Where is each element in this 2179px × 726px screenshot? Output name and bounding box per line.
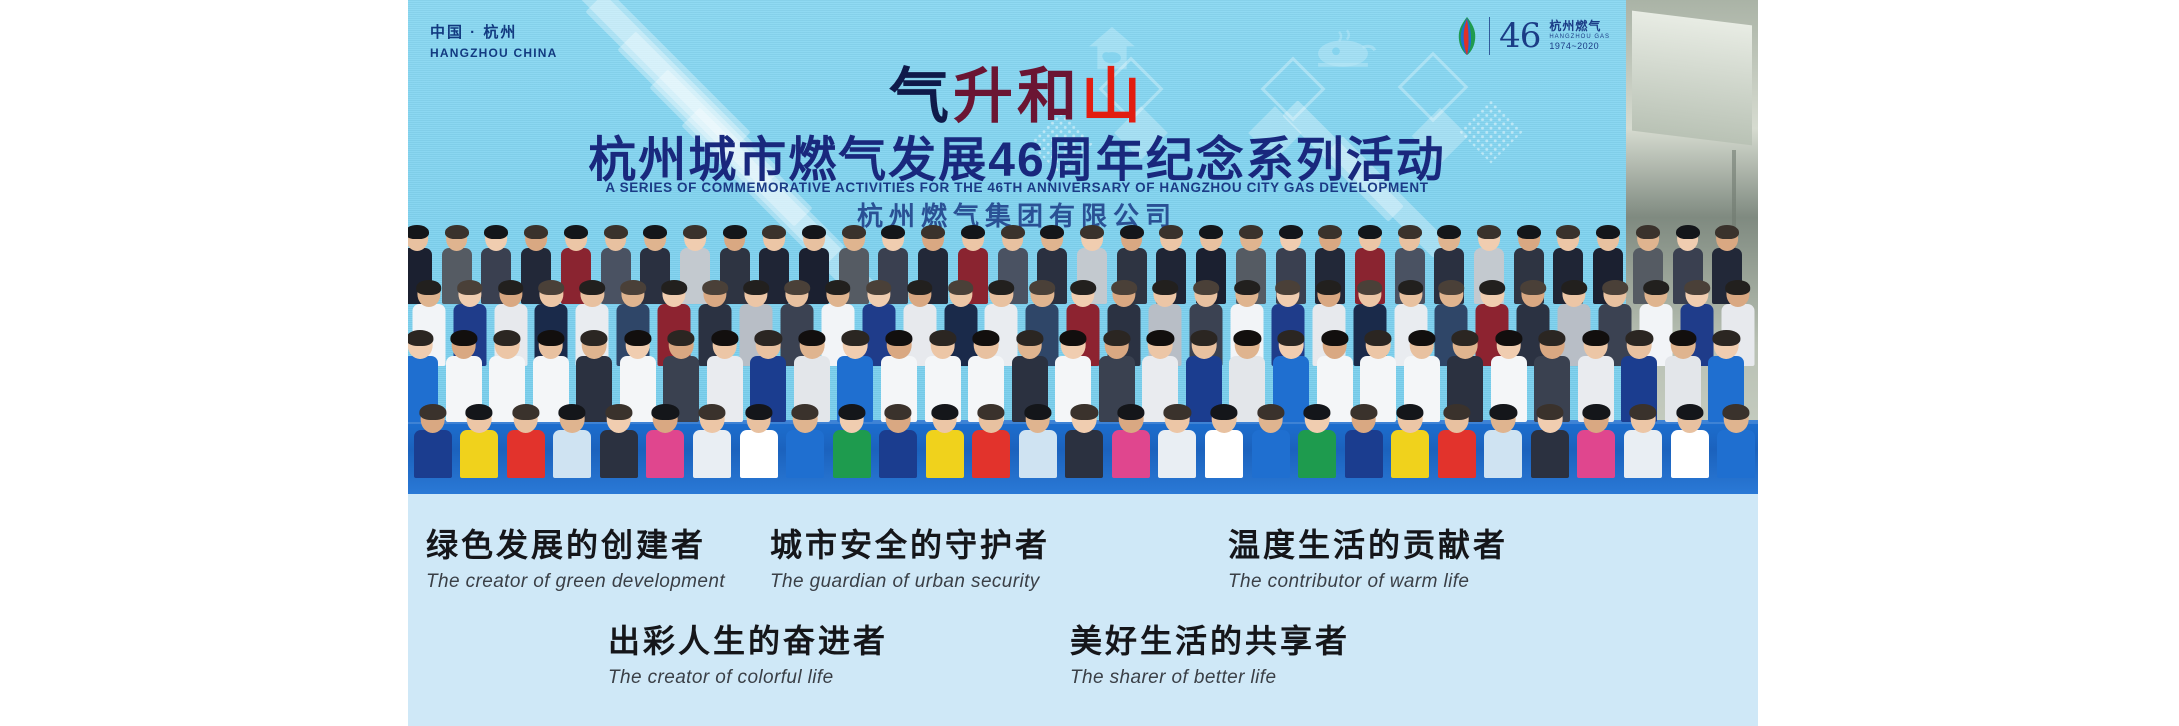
person-hair (1596, 225, 1620, 239)
person-torso (926, 430, 964, 478)
person-hair (1120, 225, 1144, 239)
person-hair (668, 330, 695, 346)
person (1345, 396, 1383, 478)
person-hair (1561, 280, 1587, 295)
person-hair (643, 225, 667, 239)
person-torso (1065, 430, 1103, 478)
person (1671, 396, 1709, 478)
flame-icon (1454, 16, 1480, 56)
person-hair (1583, 404, 1610, 420)
person-hair (838, 404, 865, 420)
person-hair (1582, 330, 1609, 346)
person-hair (1725, 280, 1751, 295)
person-hair (1111, 280, 1137, 295)
person-hair (907, 280, 933, 295)
person (414, 396, 452, 478)
person-torso (693, 430, 731, 478)
person-torso (1438, 430, 1476, 478)
person-torso (460, 430, 498, 478)
person (1298, 396, 1336, 478)
company-name-en: HANGZHOU GAS (1549, 34, 1610, 41)
person-hair (1060, 330, 1087, 346)
crowd-of-people (408, 150, 1758, 494)
person-hair (661, 280, 687, 295)
person-hair (1318, 225, 1342, 239)
slogan-item-3: 温度生活的贡献者 The contributor of warm life (1228, 520, 1508, 593)
person-hair (825, 280, 851, 295)
person-hair (1520, 280, 1546, 295)
person-hair (1277, 330, 1304, 346)
person-hair (1398, 225, 1422, 239)
person (1717, 396, 1755, 478)
slogan-en: The creator of colorful life (608, 667, 888, 689)
person-torso (879, 430, 917, 478)
person-hair (1539, 330, 1566, 346)
person-hair (1643, 280, 1669, 295)
person-hair (1316, 280, 1342, 295)
person-torso (1717, 430, 1755, 478)
person-hair (624, 330, 651, 346)
slogan-panel: 绿色发展的创建者 The creator of green developmen… (408, 494, 1758, 726)
person-torso (1624, 430, 1662, 478)
person-hair (1715, 225, 1739, 239)
person (553, 396, 591, 478)
person-torso (833, 430, 871, 478)
person-hair (498, 280, 524, 295)
person-torso (1671, 430, 1709, 478)
person-hair (1024, 404, 1051, 420)
person-hair (1070, 280, 1096, 295)
slogan-en: The sharer of better life (1070, 667, 1350, 689)
person (1484, 396, 1522, 478)
person-hair (1199, 225, 1223, 239)
person (600, 396, 638, 478)
person-hair (457, 280, 483, 295)
person-torso (1298, 430, 1336, 478)
person-hair (580, 280, 606, 295)
logo-divider (1489, 17, 1490, 55)
person-torso (1484, 430, 1522, 478)
person (786, 396, 824, 478)
person-hair (1556, 225, 1580, 239)
person-hair (1490, 404, 1517, 420)
person-hair (1495, 330, 1522, 346)
person (1577, 396, 1615, 478)
person-hair (1159, 225, 1183, 239)
person-hair (1517, 225, 1541, 239)
person-hair (755, 330, 782, 346)
person (1158, 396, 1196, 478)
person-hair (881, 225, 905, 239)
person-hair (1210, 404, 1237, 420)
person-hair (408, 330, 434, 346)
person-torso (414, 430, 452, 478)
slogan-cn: 出彩人生的奋进者 (608, 616, 888, 662)
person-hair (743, 280, 769, 295)
person-hair (1030, 280, 1056, 295)
person-hair (1477, 225, 1501, 239)
person-torso (553, 430, 591, 478)
person-hair (1408, 330, 1435, 346)
person-hair (1629, 404, 1656, 420)
person-hair (1722, 404, 1749, 420)
person-hair (1234, 330, 1261, 346)
location-label-cn: 中国 · 杭州 (430, 24, 557, 43)
person-hair (419, 404, 446, 420)
person-hair (791, 404, 818, 420)
slogan-cn: 美好生活的共享者 (1070, 616, 1350, 662)
person-hair (1357, 280, 1383, 295)
person-hair (762, 225, 786, 239)
person (833, 396, 871, 478)
person-torso (646, 430, 684, 478)
person-hair (1275, 280, 1301, 295)
person-hair (929, 330, 956, 346)
person-hair (784, 280, 810, 295)
person (1065, 396, 1103, 478)
person-hair (484, 225, 508, 239)
person-torso (507, 430, 545, 478)
person-hair (494, 330, 521, 346)
person-hair (524, 225, 548, 239)
person-hair (961, 225, 985, 239)
slogan-item-1: 绿色发展的创建者 The creator of green developmen… (426, 520, 725, 593)
person-hair (1103, 330, 1130, 346)
person-hair (1304, 404, 1331, 420)
slogan-en: The guardian of urban security (770, 571, 1050, 593)
person-hair (1536, 404, 1563, 420)
person-hair (745, 404, 772, 420)
person-hair (723, 225, 747, 239)
person (1438, 396, 1476, 478)
person-hair (559, 404, 586, 420)
person-hair (885, 330, 912, 346)
person-torso (1112, 430, 1150, 478)
person-hair (1452, 330, 1479, 346)
slogan-item-5: 美好生活的共享者 The sharer of better life (1070, 616, 1350, 689)
person-hair (581, 330, 608, 346)
person (1252, 396, 1290, 478)
person-hair (842, 225, 866, 239)
person-torso (972, 430, 1010, 478)
person-hair (1398, 280, 1424, 295)
person-hair (1676, 225, 1700, 239)
person-hair (802, 225, 826, 239)
person-torso (1391, 430, 1429, 478)
person-torso (1531, 430, 1569, 478)
person-hair (1257, 404, 1284, 420)
person-hair (921, 225, 945, 239)
poster-card: 中国 · 杭州 HANGZHOU CHINA 46 杭州燃气 HANGZHOU … (408, 0, 1758, 726)
slogan-cn: 绿色发展的创建者 (426, 520, 725, 566)
cooking-pot-icon (1308, 26, 1378, 78)
person-hair (931, 404, 958, 420)
person-hair (652, 404, 679, 420)
person-hair (1669, 330, 1696, 346)
person-hair (605, 404, 632, 420)
person-torso (1345, 430, 1383, 478)
person-hair (1147, 330, 1174, 346)
person (879, 396, 917, 478)
person-hair (450, 330, 477, 346)
group-photo: 中国 · 杭州 HANGZHOU CHINA 46 杭州燃气 HANGZHOU … (408, 0, 1758, 494)
hangzhou-gas-logo: 46 杭州燃气 HANGZHOU GAS 1974~2020 (1454, 16, 1610, 56)
person-hair (711, 330, 738, 346)
person-hair (702, 280, 728, 295)
person (1112, 396, 1150, 478)
person-hair (1279, 225, 1303, 239)
person-torso (1252, 430, 1290, 478)
person-hair (1164, 404, 1191, 420)
person-hair (1713, 330, 1740, 346)
person-torso (1205, 430, 1243, 478)
slogan-en: The contributor of warm life (1228, 571, 1508, 593)
person-hair (512, 404, 539, 420)
person-hair (416, 280, 442, 295)
person (1205, 396, 1243, 478)
company-name-cn: 杭州燃气 (1549, 20, 1610, 34)
location-label-en: HANGZHOU CHINA (430, 46, 557, 60)
person-hair (1626, 330, 1653, 346)
person (460, 396, 498, 478)
person (693, 396, 731, 478)
person-hair (1193, 280, 1219, 295)
person (1391, 396, 1429, 478)
person-hair (1636, 225, 1660, 239)
person-hair (1239, 225, 1263, 239)
person-hair (1439, 280, 1465, 295)
slogan-item-4: 出彩人生的奋进者 The creator of colorful life (608, 616, 888, 689)
person-hair (445, 225, 469, 239)
person-hair (1364, 330, 1391, 346)
person-hair (408, 225, 429, 239)
person-torso (600, 430, 638, 478)
person (507, 396, 545, 478)
person-hair (1234, 280, 1260, 295)
person-hair (683, 225, 707, 239)
person (1531, 396, 1569, 478)
person-hair (1676, 404, 1703, 420)
person-hair (842, 330, 869, 346)
person-torso (786, 430, 824, 478)
logo-wordmark: 杭州燃气 HANGZHOU GAS 1974~2020 (1549, 20, 1610, 51)
person (926, 396, 964, 478)
person-hair (1437, 225, 1461, 239)
person-torso (740, 430, 778, 478)
person (646, 396, 684, 478)
person-hair (1443, 404, 1470, 420)
person-hair (539, 280, 565, 295)
person-hair (885, 404, 912, 420)
person-hair (973, 330, 1000, 346)
slogan-item-2: 城市安全的守护者 The guardian of urban security (770, 520, 1050, 593)
person-hair (1480, 280, 1506, 295)
anniversary-number: 46 (1499, 19, 1540, 53)
person-hair (1001, 225, 1025, 239)
person-hair (1602, 280, 1628, 295)
person-hair (1190, 330, 1217, 346)
person-hair (564, 225, 588, 239)
person-hair (1397, 404, 1424, 420)
person-hair (620, 280, 646, 295)
window-pane (1632, 11, 1752, 146)
person-torso (1577, 430, 1615, 478)
person-torso (1158, 430, 1196, 478)
person (972, 396, 1010, 478)
person (740, 396, 778, 478)
person-hair (1080, 225, 1104, 239)
person-hair (1684, 280, 1710, 295)
person-hair (698, 404, 725, 420)
person-hair (604, 225, 628, 239)
slogan-cn: 温度生活的贡献者 (1228, 520, 1508, 566)
person-hair (798, 330, 825, 346)
person-hair (1040, 225, 1064, 239)
person-hair (1358, 225, 1382, 239)
slogan-en: The creator of green development (426, 571, 725, 593)
person-hair (1016, 330, 1043, 346)
person-hair (978, 404, 1005, 420)
person-hair (1350, 404, 1377, 420)
person-hair (1071, 404, 1098, 420)
person-hair (537, 330, 564, 346)
logo-years: 1974~2020 (1549, 41, 1610, 51)
person-hair (866, 280, 892, 295)
person-hair (1152, 280, 1178, 295)
person (1624, 396, 1662, 478)
location-label: 中国 · 杭州 HANGZHOU CHINA (430, 24, 557, 60)
person-hair (989, 280, 1015, 295)
person-hair (466, 404, 493, 420)
person-hair (1117, 404, 1144, 420)
person-torso (1019, 430, 1057, 478)
poster-page: 中国 · 杭州 HANGZHOU CHINA 46 杭州燃气 HANGZHOU … (0, 0, 2179, 726)
person (1019, 396, 1057, 478)
person-hair (948, 280, 974, 295)
person-hair (1321, 330, 1348, 346)
slogan-cn: 城市安全的守护者 (770, 520, 1050, 566)
